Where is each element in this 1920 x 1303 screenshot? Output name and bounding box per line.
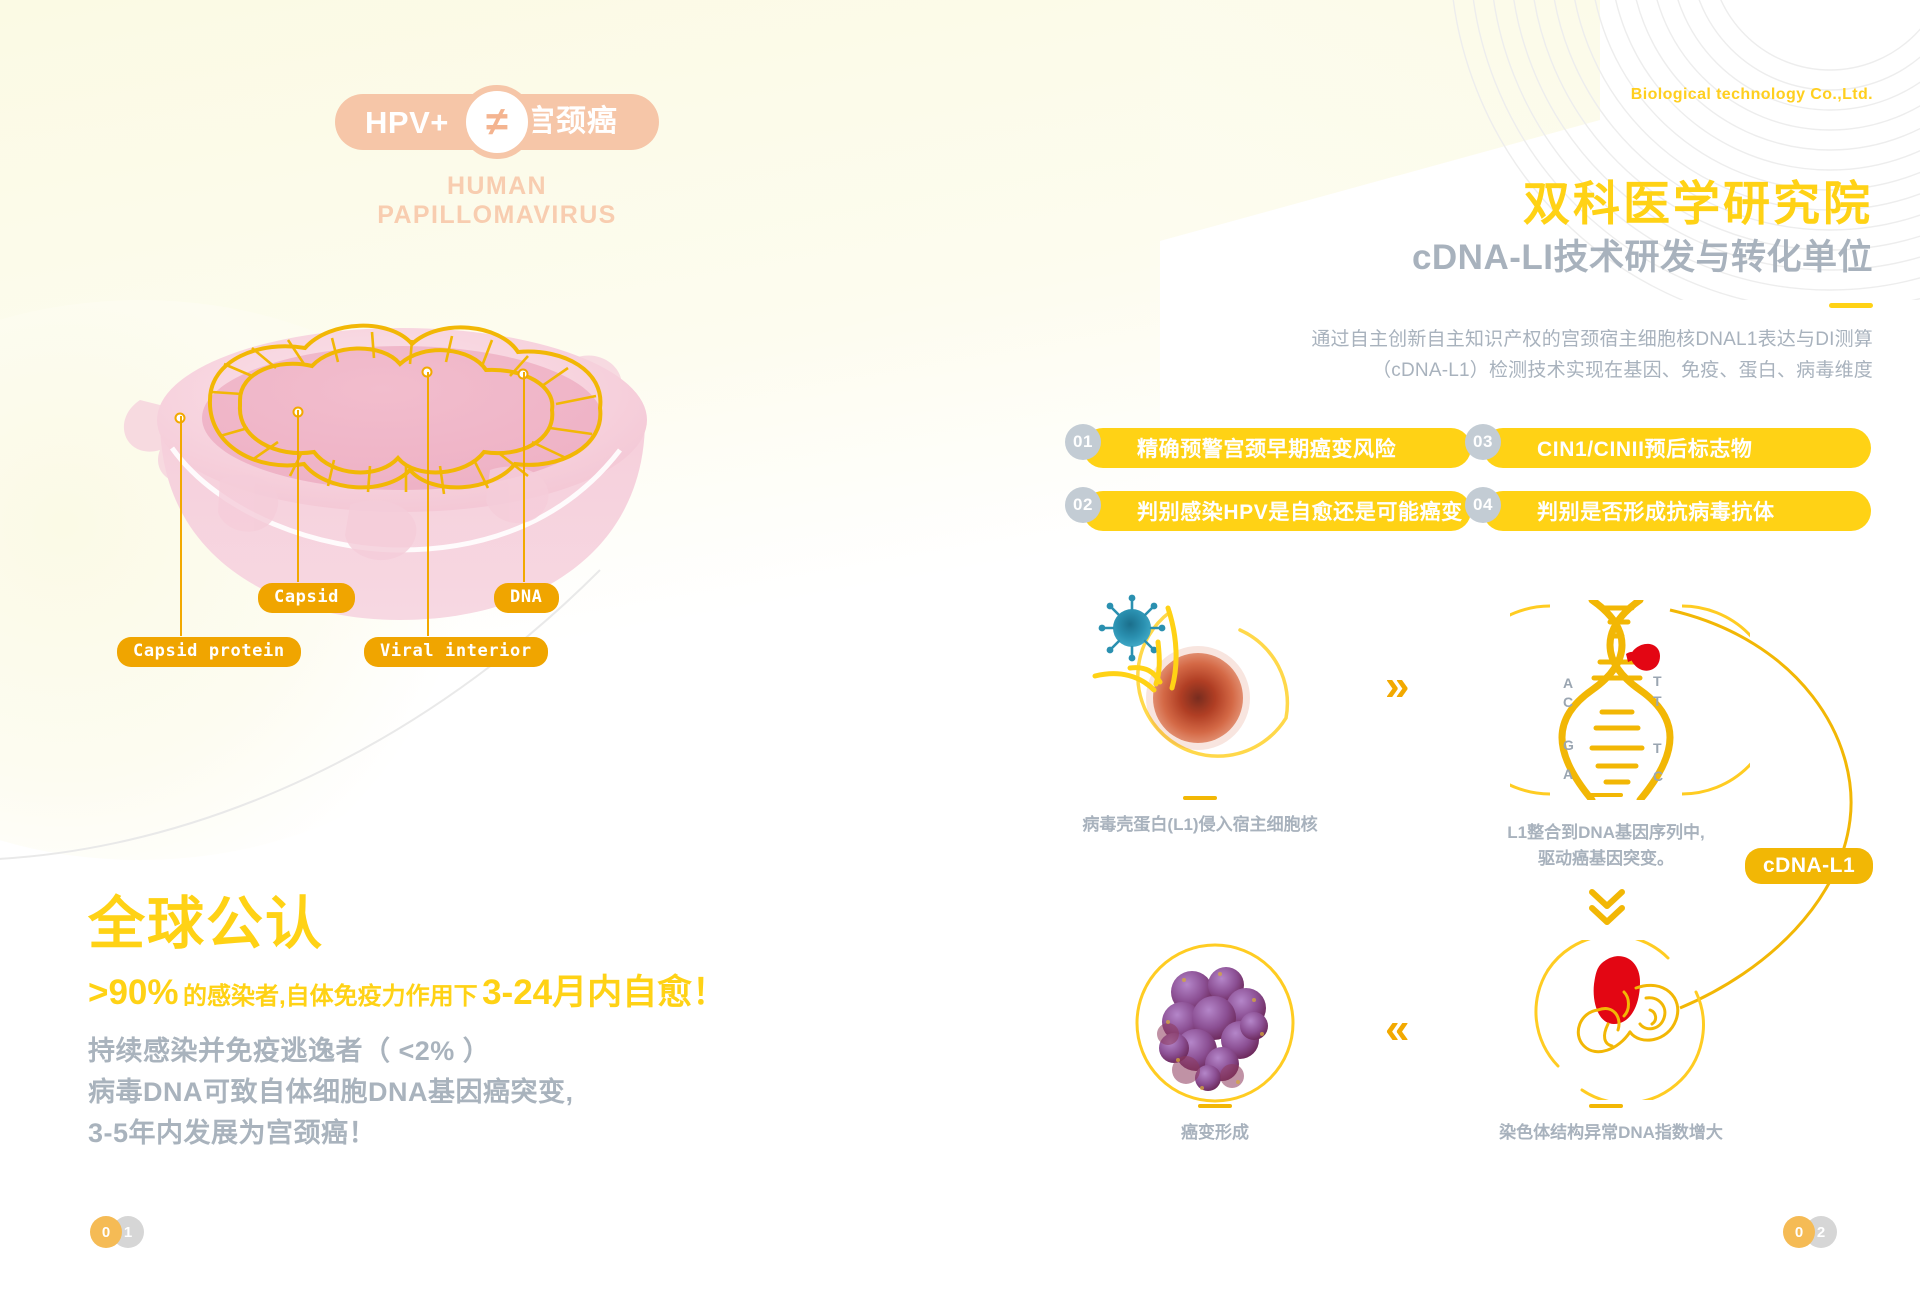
chevron-down-icon (1584, 884, 1630, 928)
paragraph-line-1: 持续感染并免疫逃逸者（ <2% ） (88, 1031, 574, 1072)
dna-base-left-3: G (1563, 737, 1574, 753)
page-number-left: 0 1 (90, 1216, 144, 1248)
step1-virus-nucleus-illustration (1090, 590, 1310, 790)
hpv-badge-pill: HPV+ 宫颈癌 ≠ (335, 94, 659, 150)
corporate-line: Biological technology Co.,Ltd. (1631, 86, 1873, 104)
feature-bar-04: 判别是否形成抗病毒抗体 (1483, 491, 1871, 531)
feature-text-02: 判别感染HPV是自愈还是可能癌变 (1083, 496, 1463, 526)
dna-base-left-4: A (1563, 766, 1573, 782)
feature-bar-03: CIN1/CINII预后标志物 (1483, 428, 1871, 468)
feature-text-04: 判别是否形成抗病毒抗体 (1483, 496, 1775, 526)
paragraph-line-2: 病毒DNA可致自体细胞DNA基因癌突变, (88, 1072, 574, 1113)
dna-base-left-2: C (1563, 694, 1573, 710)
page-number-left-prefix: 0 (90, 1216, 122, 1248)
stat-highlight: 3-24月内自愈！ (482, 973, 727, 1012)
left-paragraph: 持续感染并免疫逃逸者（ <2% ） 病毒DNA可致自体细胞DNA基因癌突变, 3… (88, 1031, 574, 1154)
step1-caption-rule (1183, 796, 1217, 800)
institute-description-line-2: （cDNA-L1）检测技术实现在基因、免疫、蛋白、病毒维度 (1311, 356, 1873, 387)
infographic-page: HPV+ 宫颈癌 ≠ HUMAN PAPILLOMAVIRUS (0, 0, 1920, 1303)
institute-description: 通过自主创新自主知识产权的宫颈宿主细胞核DNAL1表达与DI测算 （cDNA-L… (1311, 325, 1873, 387)
step3-caption-rule (1589, 1104, 1623, 1108)
paragraph-line-3: 3-5年内发展为宫颈癌！ (88, 1113, 574, 1154)
callout-capsid: Capsid (258, 583, 355, 613)
leader-line-capsid-protein (180, 416, 182, 636)
step4-tumour-illustration (1122, 930, 1308, 1116)
chevron-left-icon: « (1385, 1007, 1409, 1051)
title-rule (1829, 303, 1873, 308)
institute-description-line-1: 通过自主创新自主知识产权的宫颈宿主细胞核DNAL1表达与DI测算 (1311, 325, 1873, 356)
step3-caption: 染色体结构异常DNA指数增大 (1486, 1120, 1736, 1146)
callout-capsid-protein: Capsid protein (117, 637, 301, 667)
step2-caption-rule (1589, 793, 1623, 797)
feature-number-02: 02 (1065, 487, 1101, 523)
hpv-badge: HPV+ 宫颈癌 ≠ HUMAN PAPILLOMAVIRUS (335, 94, 659, 230)
leader-line-dna (523, 372, 525, 582)
not-equal-icon: ≠ (460, 85, 534, 159)
feature-text-01: 精确预警宫颈早期癌变风险 (1083, 433, 1396, 463)
page-number-right: 0 2 (1783, 1216, 1837, 1248)
step1-caption: 病毒壳蛋白(L1)侵入宿主细胞核 (1070, 812, 1330, 838)
step4-caption: 癌变形成 (1090, 1120, 1340, 1146)
callout-viral-interior: Viral interior (364, 637, 548, 667)
global-headline: 全球公认 (88, 896, 324, 953)
hpv-badge-subtitle: HUMAN PAPILLOMAVIRUS (335, 172, 659, 230)
institute-subtitle: cDNA-LI技术研发与转化单位 (1412, 240, 1873, 275)
callout-dna: DNA (494, 583, 559, 613)
page-number-right-prefix: 0 (1783, 1216, 1815, 1248)
feature-text-03: CIN1/CINII预后标志物 (1483, 433, 1753, 463)
virus-illustration (100, 300, 800, 620)
feature-number-01: 01 (1065, 424, 1101, 460)
feature-number-03: 03 (1465, 424, 1501, 460)
feature-number-04: 04 (1465, 487, 1501, 523)
cervical-cancer-label: 宫颈癌 (525, 107, 618, 137)
cdna-l1-pill: cDNA-L1 (1745, 848, 1873, 884)
step4-caption-rule (1198, 1104, 1232, 1108)
chevron-right-icon: » (1385, 664, 1409, 708)
stat-line: >90% 的感染者,自体免疫力作用下 3-24月内自愈！ (88, 975, 727, 1010)
stat-middle: 的感染者,自体免疫力作用下 (183, 983, 478, 1010)
leader-line-capsid (297, 410, 299, 582)
stat-percent: >90% (88, 973, 179, 1012)
feature-bar-02: 判别感染HPV是自愈还是可能癌变 (1083, 491, 1471, 531)
leader-line-viral-interior (427, 372, 429, 636)
step3-chromosome-illustration (1518, 940, 1728, 1100)
feature-bar-01: 精确预警宫颈早期癌变风险 (1083, 428, 1471, 468)
dna-base-left-1: A (1563, 675, 1573, 691)
institute-title: 双科医学研究院 (1523, 180, 1873, 227)
